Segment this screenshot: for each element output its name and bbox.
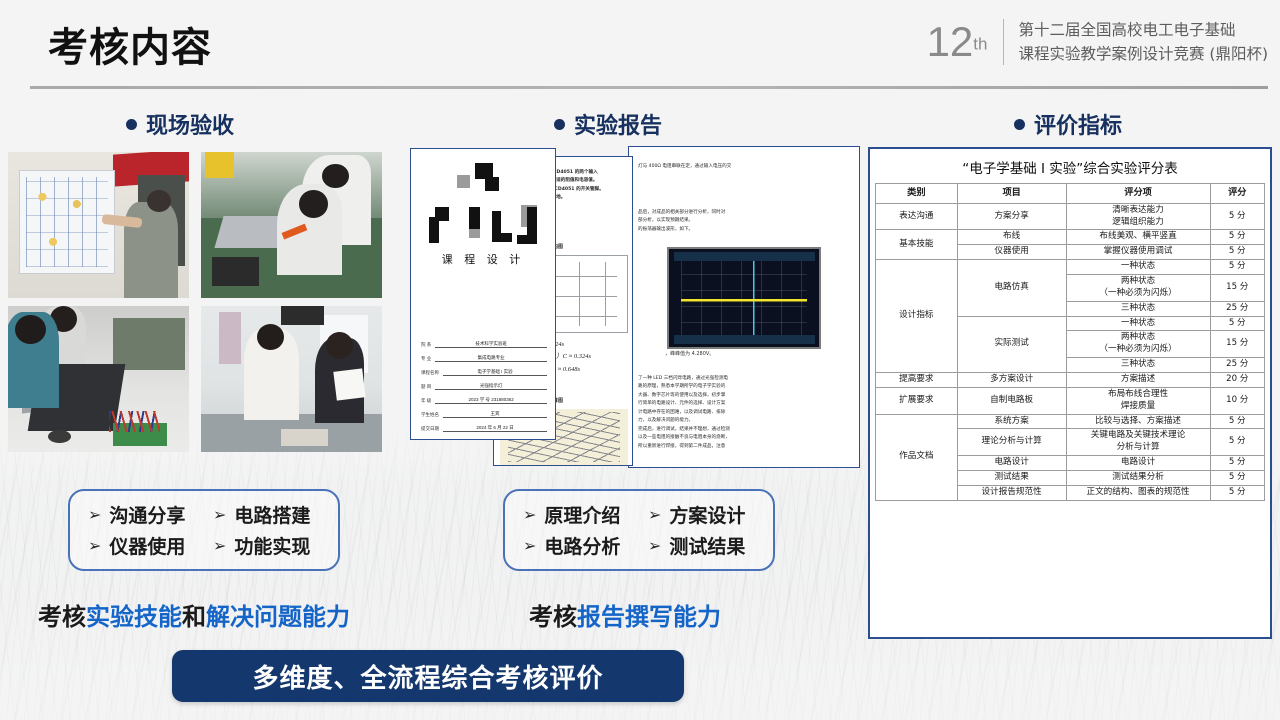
report-cover-title: 课 程 设 计 [411, 251, 555, 267]
rubric-table-body: 表达沟通方案分享清晰表达能力 逻辑组织能力5 分基本技能布线布线美观、横平竖直5… [876, 203, 1265, 500]
report-page3-bottom-text: 了一种 LED 三档闪烁电路，通过光强检测电 路的原理，熟悉本学期所学的电子学实… [638, 375, 851, 451]
photo-monitor [281, 306, 324, 325]
oscilloscope-bottombar [674, 335, 815, 344]
keyword-label: 电路分析 [544, 532, 620, 559]
caption-onsite-hl2: 解决问题能力 [206, 603, 350, 631]
cell-item: 系统方案 [957, 414, 1066, 429]
cell-item: 布线 [957, 230, 1066, 245]
cover-form-row: 课程名称 电子学基础 I 实验 [421, 369, 547, 376]
caption-report: 考核报告撰写能力 [529, 597, 721, 632]
photo-wires [109, 411, 160, 431]
cover-form-label: 年 级 [421, 398, 431, 404]
section-heading-rubric-label: 评价指标 [1034, 108, 1122, 140]
caption-onsite-mid: 和 [182, 603, 206, 631]
cover-form-row: 题 目 光强指示灯 [421, 383, 547, 390]
cell-score: 25 分 [1210, 358, 1264, 373]
cell-item: 实际测试 [957, 316, 1066, 372]
cell-item: 电路设计 [957, 456, 1066, 471]
cell-criterion: 比较与选择、方案描述 [1066, 414, 1210, 429]
photo-laptop-breadboard [8, 306, 189, 452]
arrow-icon: ➢ [213, 538, 226, 554]
arrow-icon: ➢ [88, 538, 101, 554]
cell-criterion: 布线美观、横平竖直 [1066, 230, 1210, 245]
bullet-icon [126, 119, 137, 130]
caption-onsite: 考核实验技能和解决问题能力 [38, 597, 350, 632]
cover-form-row: 学生姓名 王宾 [421, 411, 547, 418]
keyword-item: ➢ 电路搭建 [213, 501, 320, 528]
oscilloscope-topbar [674, 252, 815, 261]
photo-students-bench [201, 152, 382, 298]
arrow-icon: ➢ [648, 538, 661, 554]
report-page3-top-text: 灯与 400Ω 电阻串联在定，通过输入电压的交 [638, 163, 851, 171]
cell-score: 5 分 [1210, 203, 1264, 230]
col-header-criterion: 评分项 [1066, 184, 1210, 204]
cover-form-value: 2023 学 号 231880362 [435, 397, 547, 404]
photo-student-e-head [257, 324, 284, 350]
photo-student-c-head [15, 315, 46, 344]
cell-category: 设计指标 [876, 260, 958, 373]
summary-banner-label: 多维度、全流程综合考核评价 [252, 658, 603, 695]
cell-item: 自制电路板 [957, 387, 1066, 414]
keyword-box-report: ➢ 原理介绍 ➢ 方案设计 ➢ 电路分析 ➢ 测试结果 [503, 489, 775, 571]
logo-divider [1003, 19, 1004, 65]
cover-form-label: 课程名称 [421, 370, 439, 376]
rubric-table: 类别 项目 评分项 评分 表达沟通方案分享清晰表达能力 逻辑组织能力5 分基本技… [875, 183, 1265, 501]
bullet-icon [1014, 119, 1025, 130]
keyword-label: 仪器使用 [109, 532, 185, 559]
section-heading-onsite: 现场验收 [126, 108, 234, 140]
cover-form-value: 集成电路专业 [435, 355, 547, 362]
col-header-item: 项目 [957, 184, 1066, 204]
cover-form-label: 提交日期 [421, 426, 439, 432]
cell-criterion: 布局布线合理性 焊接质量 [1066, 387, 1210, 414]
keyword-item: ➢ 功能实现 [213, 532, 320, 559]
keyword-item: ➢ 仪器使用 [88, 532, 195, 559]
cell-criterion: 三种状态 [1066, 358, 1210, 373]
photo-paper-sheet [333, 369, 365, 401]
bullet-icon [554, 119, 565, 130]
cell-item: 理论分析与计算 [957, 429, 1066, 456]
cover-form-row: 提交日期 2024 年 6 月 22 日 [421, 425, 547, 432]
cell-category: 基本技能 [876, 230, 958, 260]
logo-caption: 第十二届全国高校电工电子基础 课程实验教学案例设计竞赛 (鼎阳杯) [1018, 18, 1268, 66]
arrow-icon: ➢ [523, 507, 536, 523]
cell-category: 扩展要求 [876, 387, 958, 414]
keyword-box-onsite: ➢ 沟通分享 ➢ 电路搭建 ➢ 仪器使用 ➢ 功能实现 [68, 489, 340, 571]
cell-item: 测试结果 [957, 471, 1066, 486]
keyword-label: 电路搭建 [234, 501, 310, 528]
cell-category: 表达沟通 [876, 203, 958, 230]
logo-ordinal: 12th [927, 21, 988, 63]
table-header-row: 类别 项目 评分项 评分 [876, 184, 1265, 204]
keyword-label: 方案设计 [669, 501, 745, 528]
photo-student-f-head [326, 332, 353, 358]
caption-onsite-pre: 考核 [38, 603, 86, 631]
cell-score: 10 分 [1210, 387, 1264, 414]
section-heading-rubric: 评价指标 [1014, 108, 1122, 140]
logo-caption-line1: 第十二届全国高校电工电子基础 [1018, 18, 1268, 42]
table-row: 基本技能布线布线美观、横平竖直5 分 [876, 230, 1265, 245]
cell-criterion: 测试结果分析 [1066, 471, 1210, 486]
caption-report-pre: 考核 [529, 603, 577, 631]
cell-criterion: 正文的结构、图表的规范性 [1066, 485, 1210, 500]
cover-form-value: 光强指示灯 [435, 383, 547, 390]
keyword-item: ➢ 测试结果 [648, 532, 755, 559]
oscilloscope-photo [667, 247, 821, 349]
title-divider-rule [30, 86, 1268, 89]
table-row: 作品文档系统方案比较与选择、方案描述5 分 [876, 414, 1265, 429]
table-row: 设计指标电路仿真一种状态5 分 [876, 260, 1265, 275]
cell-item: 方案分享 [957, 203, 1066, 230]
arrow-icon: ➢ [213, 507, 226, 523]
cell-category: 作品文档 [876, 414, 958, 500]
cell-score: 5 分 [1210, 230, 1264, 245]
cover-form-label: 院 系 [421, 342, 431, 348]
cell-criterion: 电路设计 [1066, 456, 1210, 471]
cell-criterion: 方案描述 [1066, 373, 1210, 388]
table-row: 扩展要求自制电路板布局布线合理性 焊接质量10 分 [876, 387, 1265, 414]
cell-criterion: 清晰表达能力 逻辑组织能力 [1066, 203, 1210, 230]
report-page3-caption: ，峰峰值为 4.280V。 [665, 350, 714, 357]
photo-mouse [48, 430, 72, 443]
cell-criterion: 掌握仪器使用调试 [1066, 245, 1210, 260]
cover-form-value: 技术科学实验班 [435, 341, 547, 348]
cell-category: 提高要求 [876, 373, 958, 388]
page-title: 考核内容 [48, 15, 212, 73]
cell-score: 15 分 [1210, 331, 1264, 358]
photo-teacher-whiteboard [8, 152, 189, 298]
photo-device [281, 429, 328, 447]
keyword-label: 功能实现 [234, 532, 310, 559]
arrow-icon: ➢ [523, 538, 536, 554]
col-header-category: 类别 [876, 184, 958, 204]
cell-score: 5 分 [1210, 429, 1264, 456]
photo-equipment [113, 318, 185, 371]
photo-toolcase [212, 257, 259, 286]
cell-score: 15 分 [1210, 274, 1264, 301]
cell-item: 电路仿真 [957, 260, 1066, 316]
arrow-icon: ➢ [648, 507, 661, 523]
section-heading-report-label: 实验报告 [574, 108, 662, 140]
arrow-icon: ➢ [88, 507, 101, 523]
photo-two-students-lab [201, 306, 382, 452]
onsite-photo-grid [8, 152, 390, 457]
cell-score: 5 分 [1210, 414, 1264, 429]
cover-form-row: 专 业 集成电路专业 [421, 355, 547, 362]
cell-item: 多方案设计 [957, 373, 1066, 388]
table-row: 表达沟通方案分享清晰表达能力 逻辑组织能力5 分 [876, 203, 1265, 230]
keyword-item: ➢ 方案设计 [648, 501, 755, 528]
cell-criterion: 关键电路及关键技术理论 分析与计算 [1066, 429, 1210, 456]
keyword-label: 沟通分享 [109, 501, 185, 528]
cover-form-value: 2024 年 6 月 22 日 [443, 425, 547, 432]
cell-score: 25 分 [1210, 301, 1264, 316]
cell-score: 5 分 [1210, 456, 1264, 471]
cell-score: 5 分 [1210, 485, 1264, 500]
report-cover-page: 课 程 设 计 院 系 技术科学实验班 专 业 集成电路专业 课程名称 电子学基… [410, 148, 556, 440]
cover-form-label: 题 目 [421, 384, 431, 390]
rubric-title: “电子学基础 I 实验”综合实验评分表 [875, 157, 1265, 177]
cell-criterion: 两种状态 （一种必须为闪烁） [1066, 274, 1210, 301]
logo-number: 12 [927, 18, 974, 65]
university-logo-icon [429, 163, 539, 243]
cell-score: 5 分 [1210, 260, 1264, 275]
cell-criterion: 一种状态 [1066, 316, 1210, 331]
col-header-score: 评分 [1210, 184, 1264, 204]
cell-score: 5 分 [1210, 316, 1264, 331]
keyword-label: 测试结果 [669, 532, 745, 559]
cell-score: 5 分 [1210, 471, 1264, 486]
logo-superscript: th [973, 35, 987, 54]
cell-item: 仪器使用 [957, 245, 1066, 260]
cell-item: 设计报告规范性 [957, 485, 1066, 500]
competition-logo: 12th 第十二届全国高校电工电子基础 课程实验教学案例设计竞赛 (鼎阳杯) [927, 18, 1268, 66]
rubric-table-frame: “电子学基础 I 实验”综合实验评分表 类别 项目 评分项 评分 表达沟通方案分… [868, 147, 1272, 639]
keyword-item: ➢ 沟通分享 [88, 501, 195, 528]
section-heading-report: 实验报告 [554, 108, 662, 140]
photo-curtain [219, 312, 241, 365]
photo-person-head [147, 190, 171, 212]
cover-form-label: 学生姓名 [421, 412, 439, 418]
cell-criterion: 一种状态 [1066, 260, 1210, 275]
report-page3-mid-text: 品后，对成品的相关部分进行分析，同时对 部分析，以实现预期结果。 的振荡器输出波… [638, 209, 851, 234]
caption-report-hl1: 报告撰写能力 [577, 603, 721, 631]
cover-form-row: 院 系 技术科学实验班 [421, 341, 547, 348]
cell-criterion: 两种状态 （一种必须为闪烁） [1066, 331, 1210, 358]
cell-score: 5 分 [1210, 245, 1264, 260]
cell-score: 20 分 [1210, 373, 1264, 388]
section-heading-onsite-label: 现场验收 [146, 108, 234, 140]
report-document-collage: 灯与 400Ω 电阻串联在定，通过输入电压的交 品后，对成品的相关部分进行分析，… [410, 146, 860, 471]
report-page-analysis: 灯与 400Ω 电阻串联在定，通过输入电压的交 品后，对成品的相关部分进行分析，… [628, 146, 860, 468]
caption-onsite-hl1: 实验技能 [86, 603, 182, 631]
cell-criterion: 三种状态 [1066, 301, 1210, 316]
keyword-label: 原理介绍 [544, 501, 620, 528]
cover-form-value: 电子学基础 I 实验 [443, 369, 547, 376]
photo-yellow-object [205, 152, 234, 178]
table-row: 提高要求多方案设计方案描述20 分 [876, 373, 1265, 388]
keyword-item: ➢ 原理介绍 [523, 501, 630, 528]
photo-student-b-head [299, 190, 328, 218]
cover-form-value: 王宾 [443, 411, 547, 418]
cover-form-row: 年 级 2023 学 号 231880362 [421, 397, 547, 404]
keyword-item: ➢ 电路分析 [523, 532, 630, 559]
logo-caption-line2: 课程实验教学案例设计竞赛 (鼎阳杯) [1018, 42, 1268, 66]
photo-whiteboard [19, 170, 115, 274]
cover-form-label: 专 业 [421, 356, 431, 362]
summary-banner: 多维度、全流程综合考核评价 [172, 650, 684, 702]
